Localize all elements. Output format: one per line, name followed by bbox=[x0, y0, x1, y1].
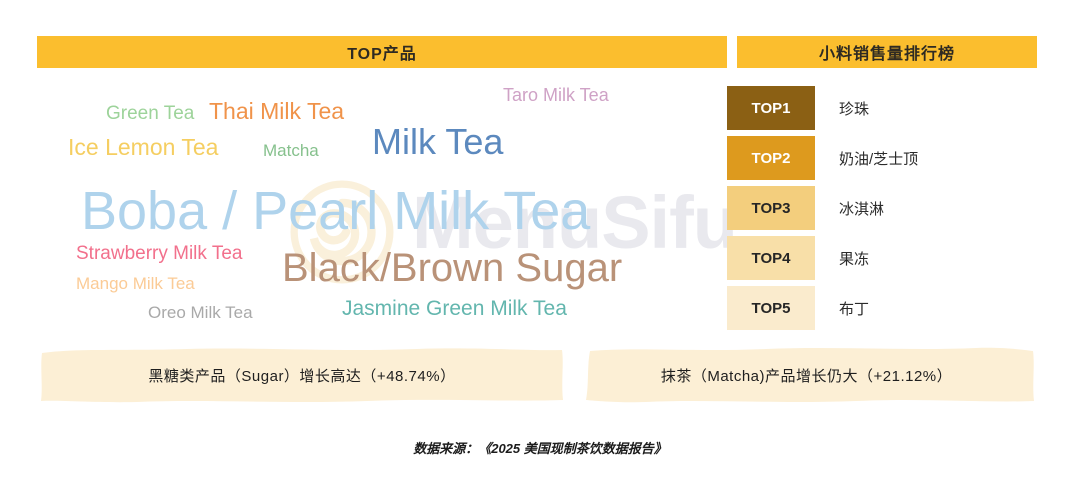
word-cloud-term: Milk Tea bbox=[372, 124, 503, 160]
rank-item-label: 冰淇淋 bbox=[839, 198, 884, 219]
ranking-row: TOP5布丁 bbox=[727, 286, 1037, 330]
ranking-row: TOP3冰淇淋 bbox=[727, 186, 1037, 230]
rank-badge: TOP3 bbox=[727, 186, 815, 230]
word-cloud-term: Taro Milk Tea bbox=[503, 86, 609, 104]
data-source-note: 数据来源：《2025 美国现制茶饮数据报告》 bbox=[0, 438, 1080, 457]
word-cloud-term: Ice Lemon Tea bbox=[68, 136, 218, 159]
word-cloud-term: Mango Milk Tea bbox=[76, 275, 195, 292]
word-cloud: Boba / Pearl Milk TeaBlack/Brown SugarMi… bbox=[37, 76, 727, 334]
rank-badge: TOP5 bbox=[727, 286, 815, 330]
topping-ranking-table: TOP1珍珠TOP2奶油/芝士顶TOP3冰淇淋TOP4果冻TOP5布丁 bbox=[727, 86, 1037, 334]
rank-badge: TOP4 bbox=[727, 236, 815, 280]
word-cloud-term: Jasmine Green Milk Tea bbox=[342, 298, 567, 319]
word-cloud-term: Green Tea bbox=[106, 104, 194, 123]
callout-matcha-growth: 抹茶（Matcha)产品增长仍大（+21.12%） bbox=[576, 346, 1037, 404]
word-cloud-term: Matcha bbox=[263, 142, 319, 159]
rank-item-label: 奶油/芝士顶 bbox=[839, 148, 918, 169]
word-cloud-term: Thai Milk Tea bbox=[209, 100, 344, 123]
header-top-products: TOP产品 bbox=[37, 36, 727, 68]
ranking-row: TOP1珍珠 bbox=[727, 86, 1037, 130]
ranking-row: TOP4果冻 bbox=[727, 236, 1037, 280]
rank-badge: TOP2 bbox=[727, 136, 815, 180]
word-cloud-term: Strawberry Milk Tea bbox=[76, 244, 242, 263]
callout-sugar-growth: 黑糖类产品（Sugar）增长高达（+48.74%） bbox=[37, 346, 567, 404]
header-topping-ranking: 小料销售量排行榜 bbox=[737, 36, 1037, 68]
infographic-page: MenuSifu TOP产品 小料销售量排行榜 Boba / Pearl Mil… bbox=[0, 0, 1080, 495]
word-cloud-term: Boba / Pearl Milk Tea bbox=[81, 184, 590, 238]
word-cloud-term: Black/Brown Sugar bbox=[282, 248, 622, 288]
rank-item-label: 果冻 bbox=[839, 248, 869, 269]
ranking-row: TOP2奶油/芝士顶 bbox=[727, 136, 1037, 180]
callout-matcha-text: 抹茶（Matcha)产品增长仍大（+21.12%） bbox=[576, 346, 1037, 404]
rank-item-label: 珍珠 bbox=[839, 98, 869, 119]
rank-badge: TOP1 bbox=[727, 86, 815, 130]
rank-item-label: 布丁 bbox=[839, 298, 869, 319]
word-cloud-term: Oreo Milk Tea bbox=[148, 304, 253, 321]
callout-sugar-text: 黑糖类产品（Sugar）增长高达（+48.74%） bbox=[37, 346, 567, 404]
